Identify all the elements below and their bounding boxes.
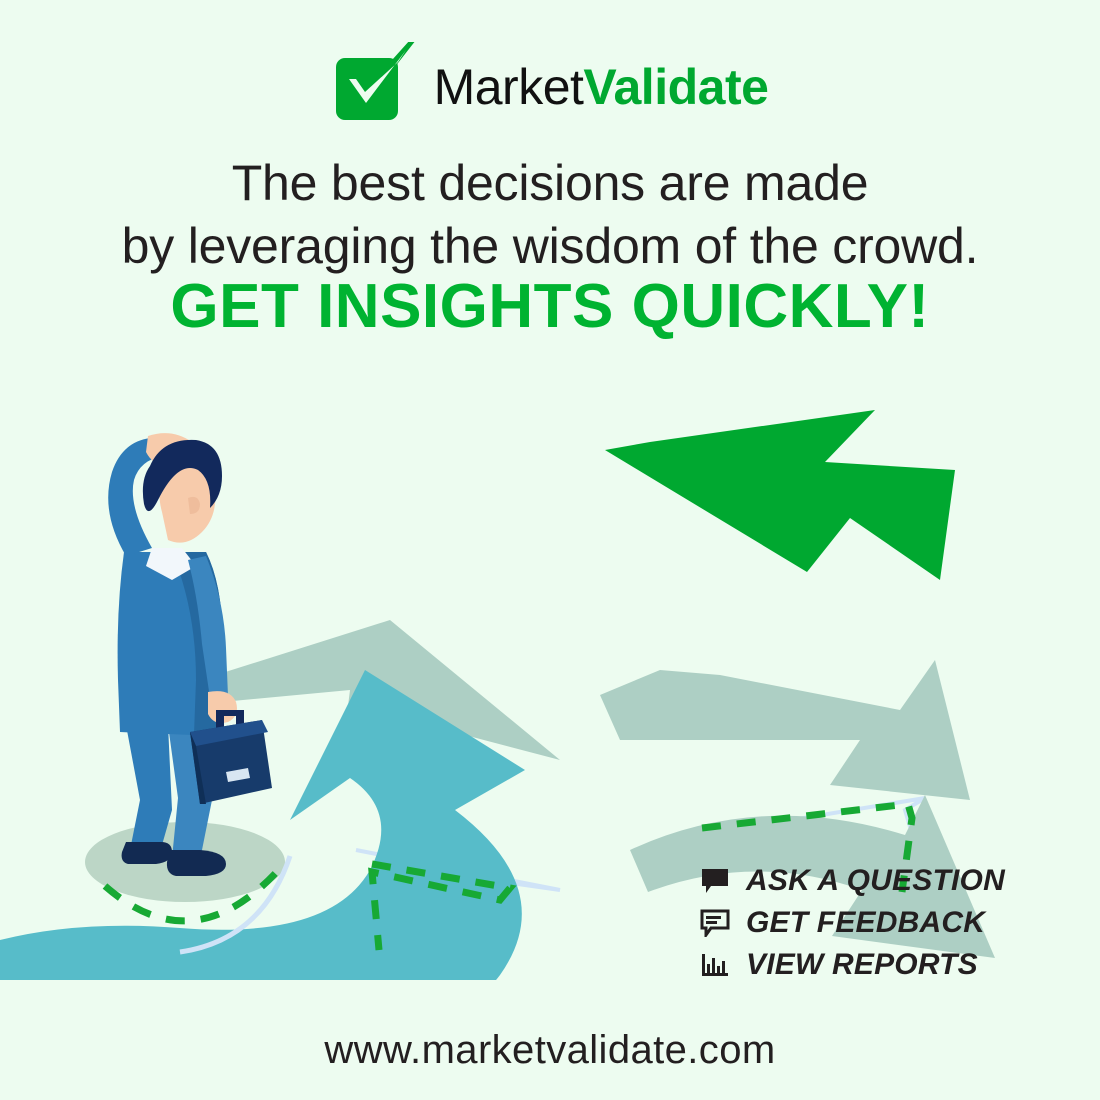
feature-label: ASK A QUESTION (746, 864, 1005, 898)
feedback-bubble-icon (700, 909, 730, 937)
speech-bubble-icon (700, 867, 730, 895)
headline: The best decisions are made by leveragin… (0, 152, 1100, 278)
confused-businessman (108, 433, 272, 876)
feature-view-reports[interactable]: VIEW REPORTS (700, 946, 1030, 984)
sage-arrow-down-right (600, 660, 970, 800)
feature-label: VIEW REPORTS (746, 948, 978, 982)
feature-list: ASK A QUESTION GET FEEDBACK (700, 862, 1030, 988)
headline-line-2: by leveraging the wisdom of the crowd. (0, 215, 1100, 278)
website-url[interactable]: www.marketvalidate.com (0, 1028, 1100, 1073)
brand-wordmark: MarketValidate (434, 62, 769, 112)
feature-get-feedback[interactable]: GET FEEDBACK (700, 904, 1030, 942)
figure-shoe-front (167, 850, 226, 876)
green-checkbox-check-icon (332, 42, 416, 126)
subheadline: GET INSIGHTS QUICKLY! (0, 276, 1100, 338)
bar-chart-icon (700, 951, 730, 979)
brand-name-validate: Validate (583, 59, 768, 115)
feature-label: GET FEEDBACK (746, 906, 985, 940)
brand-name-market: Market (434, 59, 584, 115)
brand-logo[interactable]: MarketValidate (0, 42, 1100, 126)
green-arrow-up-right (605, 410, 955, 580)
headline-line-1: The best decisions are made (0, 152, 1100, 215)
poster-canvas: MarketValidate The best decisions are ma… (0, 0, 1100, 1100)
figure-shoe-back (122, 842, 172, 864)
feature-ask-a-question[interactable]: ASK A QUESTION (700, 862, 1030, 900)
